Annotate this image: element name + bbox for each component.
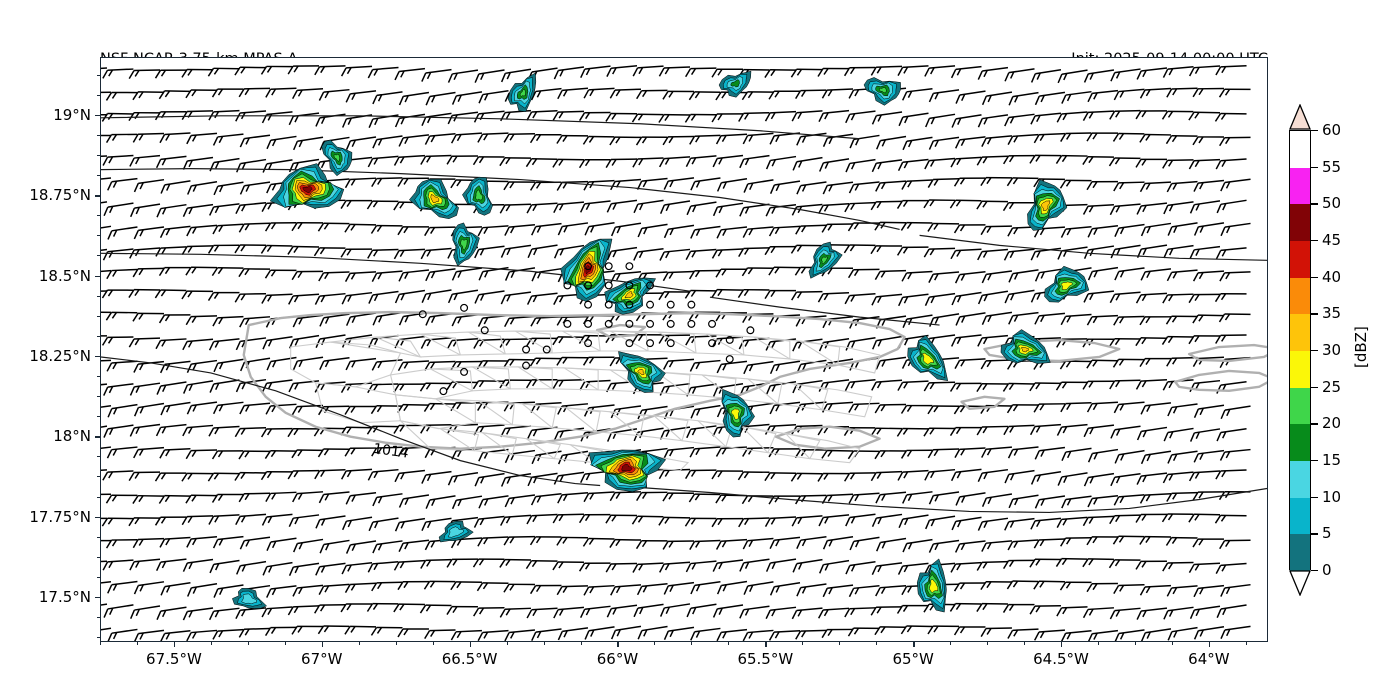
- colorbar-segment: [1290, 534, 1310, 571]
- colorbar-tick: [1311, 460, 1318, 461]
- colorbar-segment: [1290, 168, 1310, 205]
- colorbar-tick: [1311, 167, 1318, 168]
- colorbar-tick: [1311, 240, 1318, 241]
- wind-barb-field: [101, 66, 1252, 641]
- colorbar-tick: [1311, 387, 1318, 388]
- y-tick-label: 17.5°N: [39, 588, 91, 606]
- colorbar-tick-label: 10: [1322, 488, 1341, 506]
- map-plot-area[interactable]: 1014: [100, 57, 1268, 642]
- colorbar-tick: [1311, 423, 1318, 424]
- colorbar-segment: [1290, 424, 1310, 461]
- colorbar-tick-label: 40: [1322, 268, 1341, 286]
- colorbar-segment: [1290, 278, 1310, 315]
- colorbar-tick-label: 60: [1322, 121, 1341, 139]
- colorbar-segment: [1290, 461, 1310, 498]
- colorbar-tick: [1311, 570, 1318, 571]
- colorbar-segment: [1290, 388, 1310, 425]
- y-tick-label: 17.75°N: [29, 508, 91, 526]
- colorbar: [1289, 130, 1311, 570]
- colorbar-segment: [1290, 241, 1310, 278]
- colorbar-under-arrow: [1289, 570, 1311, 596]
- y-tick-label: 18.5°N: [39, 267, 91, 285]
- colorbar-tick: [1311, 203, 1318, 204]
- colorbar-tick-label: 35: [1322, 304, 1341, 322]
- x-tick-label: 65°W: [892, 650, 933, 668]
- y-tick-label: 18.75°N: [29, 186, 91, 204]
- y-tick-label: 19°N: [53, 106, 91, 124]
- x-tick-label: 64°W: [1188, 650, 1229, 668]
- colorbar-segment: [1290, 498, 1310, 535]
- y-tick-label: 18°N: [53, 427, 91, 445]
- y-tick-label: 18.25°N: [29, 347, 91, 365]
- colorbar-tick: [1311, 497, 1318, 498]
- x-tick-label: 64.5°W: [1033, 650, 1089, 668]
- colorbar-tick-label: 15: [1322, 451, 1341, 469]
- colorbar-over-arrow: [1289, 104, 1311, 130]
- colorbar-tick: [1311, 313, 1318, 314]
- x-tick-label: 66°W: [597, 650, 638, 668]
- colorbar-tick-label: 55: [1322, 158, 1341, 176]
- colorbar-segment: [1290, 314, 1310, 351]
- colorbar-tick-label: 45: [1322, 231, 1341, 249]
- colorbar-tick-label: 25: [1322, 378, 1341, 396]
- x-tick-label: 66.5°W: [442, 650, 498, 668]
- x-tick-label: 67.5°W: [146, 650, 202, 668]
- map-canvas: 1014: [101, 58, 1267, 641]
- colorbar-unit-label: [dBZ]: [1352, 326, 1370, 368]
- x-tick-label: 67°W: [301, 650, 342, 668]
- colorbar-tick-label: 0: [1322, 561, 1332, 579]
- colorbar-segment: [1290, 204, 1310, 241]
- colorbar-tick-label: 20: [1322, 414, 1341, 432]
- colorbar-tick-label: 5: [1322, 524, 1332, 542]
- colorbar-tick: [1311, 277, 1318, 278]
- colorbar-tick-label: 30: [1322, 341, 1341, 359]
- x-tick-label: 65.5°W: [737, 650, 793, 668]
- colorbar-tick-label: 50: [1322, 194, 1341, 212]
- colorbar-tick: [1311, 130, 1318, 131]
- colorbar-tick: [1311, 533, 1318, 534]
- colorbar-segment: [1290, 351, 1310, 388]
- colorbar-tick: [1311, 350, 1318, 351]
